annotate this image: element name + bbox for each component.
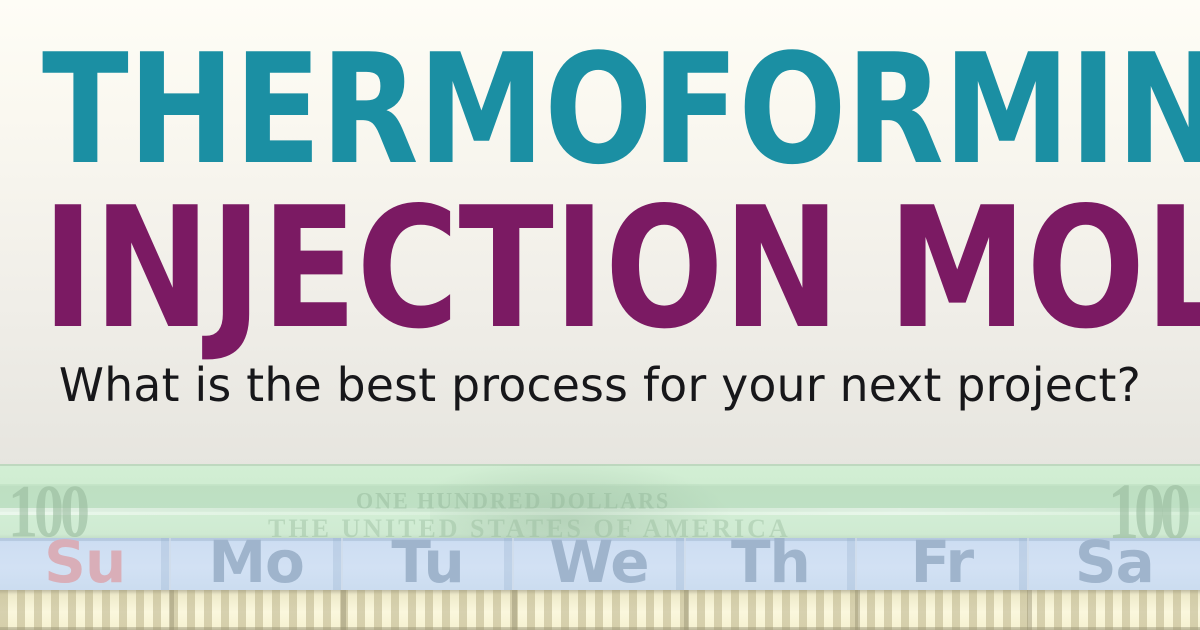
calendar-day-label: Th [731,538,810,591]
calendar-day-cell-th: Th [686,538,857,592]
calendar-day-label: Su [44,538,125,591]
calendar-day-cell-fr: Fr [857,538,1028,592]
stripe-band-divider [1027,590,1032,630]
calendar-day-cell-su: Su [0,538,171,592]
calendar-day-cell-mo: Mo [171,538,342,592]
calendar-day-label: Fr [911,538,974,591]
banknote-denomination-right: 100 [1108,472,1186,540]
headline-block: THERMOFORMING VS INJECTION MOLDING What … [0,0,1200,465]
banknote-legend-secondary: THE UNITED STATES OF AMERICA [268,516,791,540]
title-line-two: INJECTION MOLDING [42,186,1158,353]
calendar-day-label: Mo [208,538,304,591]
money-band: 100 100 ONE HUNDRED DOLLARS THE UNITED S… [0,464,1200,540]
calendar-band: SuMoTuWeThFrSa [0,538,1200,592]
stripe-band-divider [169,590,174,630]
title-word-injection-molding: INJECTION MOLDING [42,172,1200,366]
striped-paper-band [0,590,1200,630]
stripe-band-divider [341,590,346,630]
stripe-band-divider [684,590,689,630]
calendar-day-cell-we: We [514,538,685,592]
banknote-legend-primary: ONE HUNDRED DOLLARS [356,489,670,512]
stripe-band-divider [855,590,860,630]
stripe-band-divider [512,590,517,630]
calendar-day-label: Sa [1075,538,1154,591]
title-line-one: THERMOFORMING VS [42,34,1158,186]
calendar-day-label: Tu [391,538,463,591]
poster-canvas: THERMOFORMING VS INJECTION MOLDING What … [0,0,1200,630]
subtitle-text: What is the best process for your next p… [6,358,1194,412]
calendar-day-header-row: SuMoTuWeThFrSa [0,538,1200,592]
calendar-day-cell-sa: Sa [1029,538,1200,592]
calendar-day-cell-tu: Tu [343,538,514,592]
banknote-denomination-left: 100 [8,474,86,540]
calendar-day-label: We [549,538,648,591]
